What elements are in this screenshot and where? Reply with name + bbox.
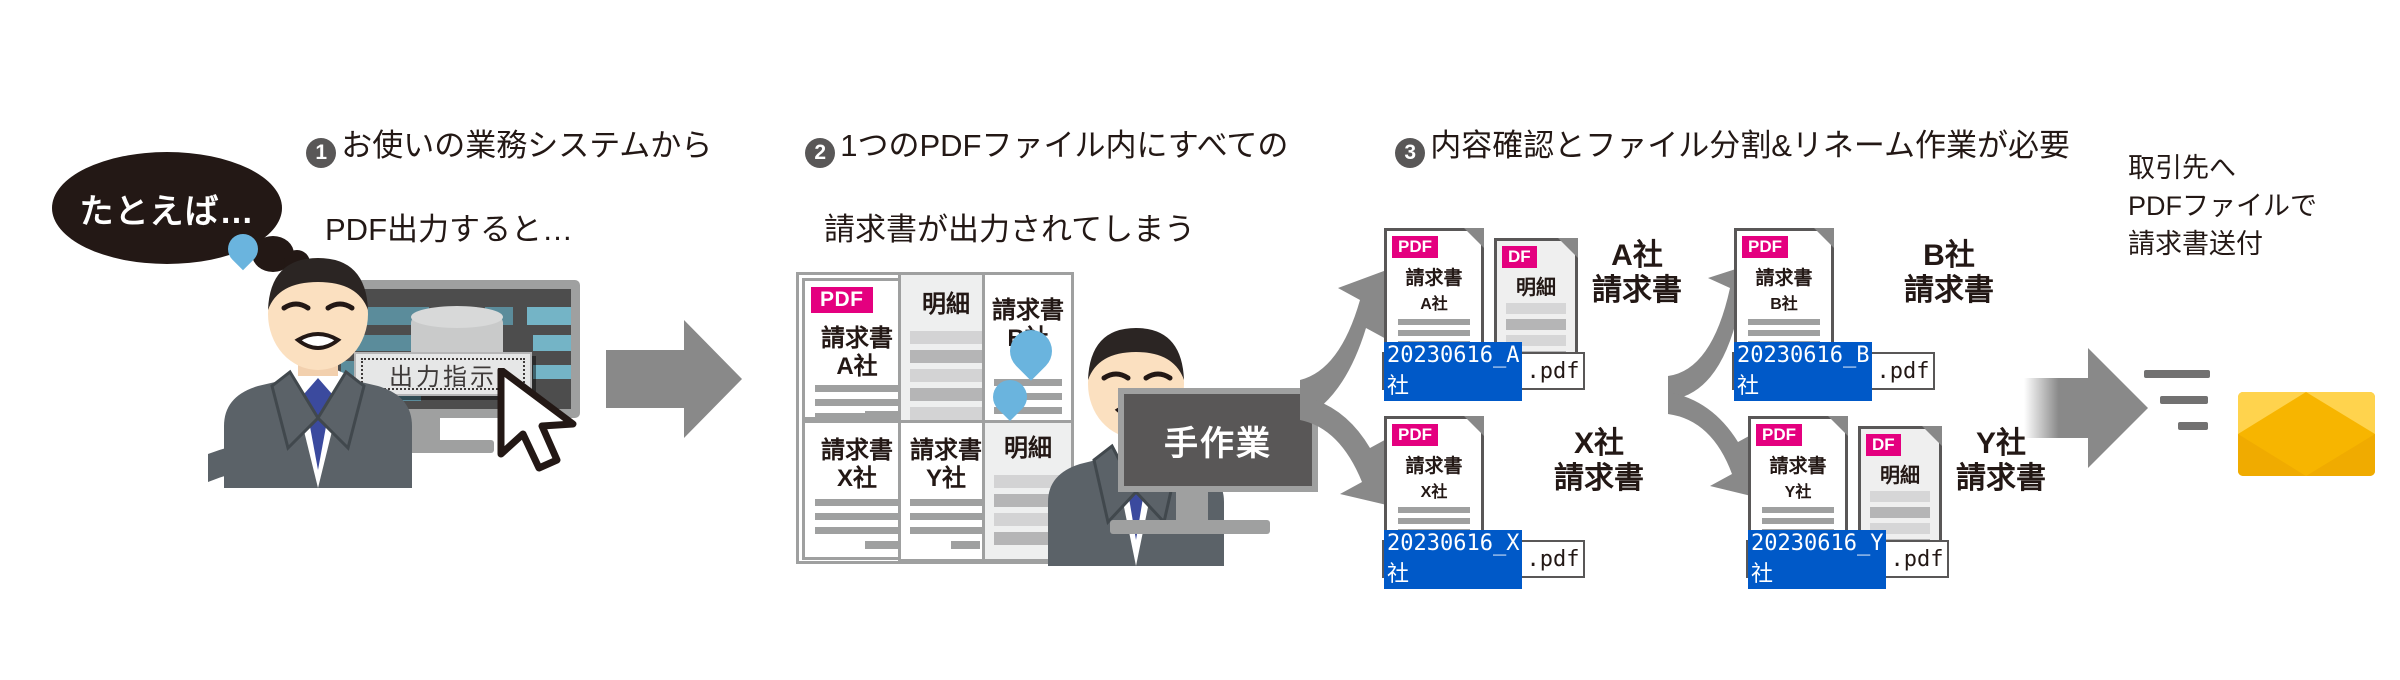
pdf-badge: DF — [1866, 434, 1901, 456]
screen-bar — [533, 335, 571, 351]
pdf-page: 明細 — [898, 272, 994, 424]
page-fold-icon — [1814, 228, 1834, 248]
filename-ext-x: .pdf — [1522, 547, 1583, 572]
step-3-line1: 内容確認とファイル分割&リネーム作業が必要 — [1430, 128, 2070, 163]
pdf-page: 請求書X社 — [802, 420, 912, 560]
pdf-page-title: 請求書Y社 — [901, 437, 991, 494]
page-fold-icon — [1922, 426, 1942, 446]
filename-ext-y: .pdf — [1886, 547, 1947, 572]
worried-businessman-1-illustration — [168, 258, 508, 493]
step-3-heading: 3内容確認とファイル分割&リネーム作業が必要 — [1378, 84, 2070, 168]
pdf-page-rows — [910, 331, 982, 426]
result-doc-invoice: PDF 請求書Y社 — [1748, 416, 1848, 546]
step-1-line2: PDF出力すると… — [325, 209, 712, 250]
result-label-x: X社 請求書 — [1554, 426, 1644, 497]
thought-bubble-text: たとえば… — [80, 184, 255, 233]
result-doc-title: 明細 — [1497, 271, 1575, 300]
step-2-number: 2 — [805, 138, 835, 168]
monitor-stand-2 — [1176, 492, 1208, 522]
pdf-page: PDF 請求書A社 — [802, 278, 912, 420]
mail-send-label: 取引先へ PDFファイルで 請求書送付 — [2128, 150, 2317, 263]
manual-work-label: 手作業 — [1164, 416, 1272, 465]
filename-field-b[interactable]: 20230616_B社 .pdf — [1732, 352, 1935, 390]
page-fold-icon — [1558, 238, 1578, 258]
filename-field-y[interactable]: 20230616_Y社 .pdf — [1746, 540, 1949, 578]
pdf-badge: PDF — [811, 287, 873, 313]
filename-selected-b: 20230616_B社 — [1734, 342, 1872, 401]
filename-field-x[interactable]: 20230616_X社 .pdf — [1382, 540, 1585, 578]
pdf-page-lines — [910, 499, 982, 541]
screen-bar — [527, 307, 571, 325]
pdf-badge: PDF — [1392, 236, 1438, 258]
pdf-badge: PDF — [1392, 424, 1438, 446]
pdf-badge: PDF — [1742, 236, 1788, 258]
filename-ext-b: .pdf — [1872, 359, 1933, 384]
step-2-line2: 請求書が出力されてしまう — [824, 209, 1288, 250]
result-doc-invoice: PDF 請求書A社 — [1384, 228, 1484, 358]
page-fold-icon — [1464, 228, 1484, 248]
speed-line — [2144, 370, 2210, 378]
result-doc-title: 明細 — [1861, 459, 1939, 488]
flow-arrow-1 — [606, 320, 742, 443]
pdf-badge: DF — [1502, 246, 1537, 268]
step-1-number: 1 — [306, 138, 336, 168]
envelope-flap-left — [2238, 392, 2306, 434]
step-2-line1: 1つのPDFファイル内にすべての — [840, 128, 1288, 163]
result-doc-invoice: PDF 請求書X社 — [1384, 416, 1484, 546]
pdf-page-shortline — [865, 411, 898, 419]
step-3-number: 3 — [1395, 138, 1425, 168]
filename-selected-x: 20230616_X社 — [1384, 530, 1522, 589]
pdf-page-lines — [815, 499, 898, 541]
filename-field-a[interactable]: 20230616_A社 .pdf — [1382, 352, 1585, 390]
envelope-body-right — [2306, 434, 2375, 476]
pdf-page-shortline — [865, 541, 898, 549]
envelope-flap-right — [2306, 392, 2375, 434]
result-doc-title: 請求書X社 — [1387, 451, 1481, 503]
page-fold-icon — [1828, 416, 1848, 436]
result-doc-title: 請求書B社 — [1737, 263, 1831, 315]
filename-selected-y: 20230616_Y社 — [1748, 530, 1886, 589]
step-1-line1: お使いの業務システムから — [341, 128, 712, 163]
result-doc-invoice: PDF 請求書B社 — [1734, 228, 1834, 358]
envelope-body-left — [2238, 434, 2306, 476]
envelope-icon — [2238, 392, 2375, 476]
step-2-heading: 21つのPDFファイル内にすべての 請求書が出力されてしまう — [788, 84, 1288, 292]
pdf-page-title: 請求書A社 — [805, 325, 909, 382]
page-fold-icon — [1464, 416, 1484, 436]
pdf-badge: PDF — [1756, 424, 1802, 446]
result-label-b: B社 請求書 — [1904, 238, 1994, 309]
pdf-page-title: 請求書X社 — [805, 437, 909, 494]
pdf-page: 請求書Y社 — [898, 420, 994, 562]
filename-ext-a: .pdf — [1522, 359, 1583, 384]
filename-selected-a: 20230616_A社 — [1384, 342, 1522, 401]
speed-line — [2160, 396, 2208, 404]
pdf-page-title: 明細 — [901, 291, 991, 319]
result-doc-title: 請求書A社 — [1387, 263, 1481, 315]
pdf-page-shortline — [951, 541, 980, 549]
flow-arrow-final — [2024, 348, 2148, 473]
monitor-base-2 — [1110, 520, 1270, 534]
manual-work-box: 手作業 — [1118, 388, 1318, 492]
speed-line — [2178, 422, 2208, 430]
result-label-a: A社 請求書 — [1592, 238, 1682, 309]
result-doc-title: 請求書Y社 — [1751, 451, 1845, 503]
